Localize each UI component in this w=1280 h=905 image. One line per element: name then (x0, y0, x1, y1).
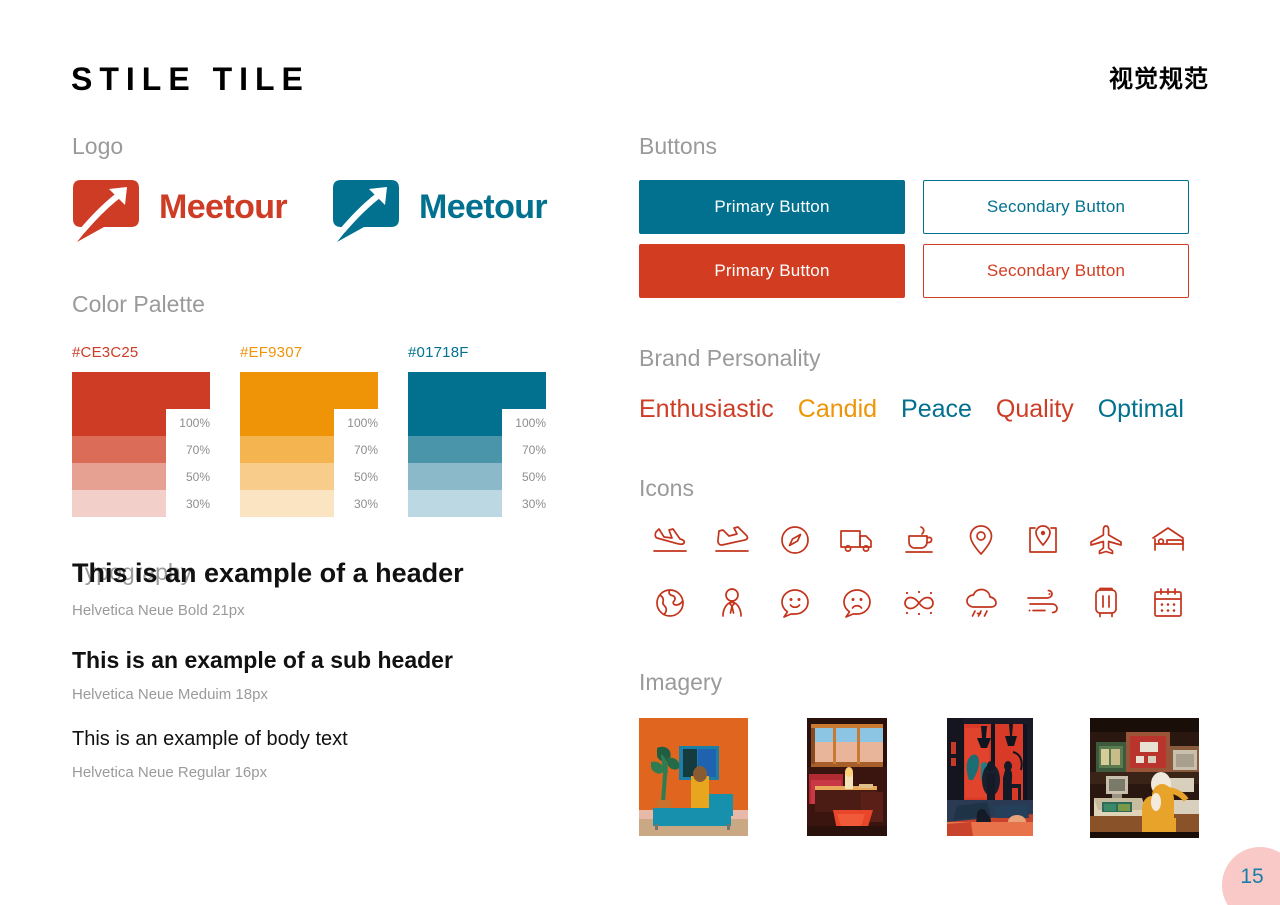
logo-wordmark-red: Meetour (159, 190, 287, 224)
happy-chat-icon (763, 581, 825, 625)
delivery-truck-icon (826, 518, 888, 562)
logo-variant-red: Meetour (71, 172, 287, 242)
swatch-top-band (72, 372, 210, 409)
typography-sample-text: This is an example of a header (72, 558, 612, 589)
locale-title: 视觉规范 (1109, 68, 1209, 92)
swatch-tint-label: 100% (170, 416, 210, 430)
red-lounge-silhouettes-image (947, 718, 1033, 836)
coffee-cup-icon (888, 518, 950, 562)
swatch-column-red: #CE3C25 100% 70% 50% 30% (72, 345, 210, 517)
typography-sample-header: This is an example of a header Helvetica… (72, 558, 612, 618)
logo-wordmark-teal: Meetour (419, 190, 547, 224)
rain-cloud-icon (950, 581, 1012, 625)
swatch-tint-label: 50% (338, 470, 378, 484)
diner-booth-window-image (807, 718, 887, 836)
logo-variant-teal: Meetour (331, 172, 547, 242)
swatch-tint-30: 30% (72, 490, 166, 517)
page-number: 15 (1240, 865, 1263, 889)
swatch-tint-label: 70% (338, 443, 378, 457)
swatch-tint-70: 70% (240, 436, 334, 463)
swatch-tint-100: 100% (408, 409, 502, 436)
primary-button-teal[interactable]: Primary Button (639, 180, 905, 234)
orange-room-sofa-image (639, 718, 748, 836)
swatch-tint-label: 100% (506, 416, 546, 430)
swatch-hex-label: #CE3C25 (72, 345, 210, 360)
page-number-badge: 15 (1222, 847, 1280, 905)
retro-control-room-image (1090, 718, 1199, 838)
swatch-tint-label: 30% (338, 497, 378, 511)
swatch-tint-100: 100% (240, 409, 334, 436)
map-pin-icon (950, 518, 1012, 562)
swatch-tint-label: 30% (506, 497, 546, 511)
icon-row-1 (639, 518, 1199, 562)
section-heading-color-palette: Color Palette (72, 293, 205, 316)
swatch-column-teal: #01718F 100% 70% 50% 30% (408, 345, 546, 517)
swatch-tint-label: 70% (170, 443, 210, 457)
typography-sample-note: Helvetica Neue Bold 21px (72, 603, 612, 618)
swatch-top-band (240, 372, 378, 409)
compass-icon (763, 518, 825, 562)
brand-personality-words: Enthusiastic Candid Peace Quality Optima… (639, 397, 1184, 422)
personality-word-quality: Quality (996, 397, 1074, 422)
swatch-tint-label: 100% (338, 416, 378, 430)
tour-guide-icon (701, 581, 763, 625)
swatch-tint-70: 70% (72, 436, 166, 463)
airplane-icon (1075, 518, 1137, 562)
personality-word-enthusiastic: Enthusiastic (639, 397, 774, 422)
swatch-tint-label: 70% (506, 443, 546, 457)
style-tile-page: STILE TILE 视觉规范 Logo Color Palette Typog… (0, 0, 1280, 905)
swatch-tint-30: 30% (240, 490, 334, 517)
secondary-button-red[interactable]: Secondary Button (923, 244, 1189, 298)
swatch-hex-label: #EF9307 (240, 345, 378, 360)
swatch-tint-label: 50% (170, 470, 210, 484)
page-title: STILE TILE (71, 63, 310, 95)
typography-samples: This is an example of a header Helvetica… (72, 558, 612, 784)
button-row-teal: Primary Button Secondary Button (639, 180, 1192, 234)
swatch-hex-label: #01718F (408, 345, 546, 360)
plane-takeoff-icon (701, 518, 763, 562)
button-row-red: Primary Button Secondary Button (639, 244, 1192, 298)
plane-landing-icon (639, 518, 701, 562)
section-heading-icons: Icons (639, 477, 694, 500)
calendar-icon (1137, 581, 1199, 625)
personality-word-optimal: Optimal (1098, 397, 1184, 422)
globe-icon (639, 581, 701, 625)
logo-variants: Meetour Meetour (71, 172, 571, 252)
section-heading-buttons: Buttons (639, 135, 717, 158)
typography-sample-text: This is an example of a sub header (72, 647, 612, 673)
swatch-tint-30: 30% (408, 490, 502, 517)
swatch-tint-50: 50% (240, 463, 334, 490)
speech-bubble-arrow-icon (71, 172, 141, 242)
sad-chat-icon (826, 581, 888, 625)
button-samples: Primary Button Secondary Button Primary … (639, 180, 1192, 308)
section-heading-logo: Logo (72, 135, 123, 158)
infinity-connect-icon (888, 581, 950, 625)
section-heading-imagery: Imagery (639, 671, 722, 694)
typography-sample-subheader: This is an example of a sub header Helve… (72, 647, 612, 702)
swatch-top-band (408, 372, 546, 409)
swatch-tint-label: 50% (506, 470, 546, 484)
icon-row-2 (639, 581, 1199, 625)
section-heading-brand-personality: Brand Personality (639, 347, 821, 370)
icon-set (639, 518, 1199, 644)
typography-sample-note: Helvetica Neue Meduim 18px (72, 687, 612, 702)
speech-bubble-arrow-icon (331, 172, 401, 242)
hotel-bed-icon (1137, 518, 1199, 562)
swatch-tint-50: 50% (408, 463, 502, 490)
swatch-column-orange: #EF9307 100% 70% 50% 30% (240, 345, 378, 517)
swatch-tint-70: 70% (408, 436, 502, 463)
personality-word-candid: Candid (798, 397, 877, 422)
typography-sample-body: This is an example of body text Helvetic… (72, 728, 612, 780)
swatch-tint-50: 50% (72, 463, 166, 490)
swatch-tint-label: 30% (170, 497, 210, 511)
swatch-tint-100: 100% (72, 409, 166, 436)
typography-sample-note: Helvetica Neue Regular 16px (72, 765, 612, 780)
typography-sample-text: This is an example of body text (72, 728, 612, 751)
imagery-thumbnails (639, 718, 1199, 836)
secondary-button-teal[interactable]: Secondary Button (923, 180, 1189, 234)
primary-button-red[interactable]: Primary Button (639, 244, 905, 298)
wind-icon (1012, 581, 1074, 625)
suitcase-icon (1075, 581, 1137, 625)
personality-word-peace: Peace (901, 397, 972, 422)
map-location-icon (1012, 518, 1074, 562)
